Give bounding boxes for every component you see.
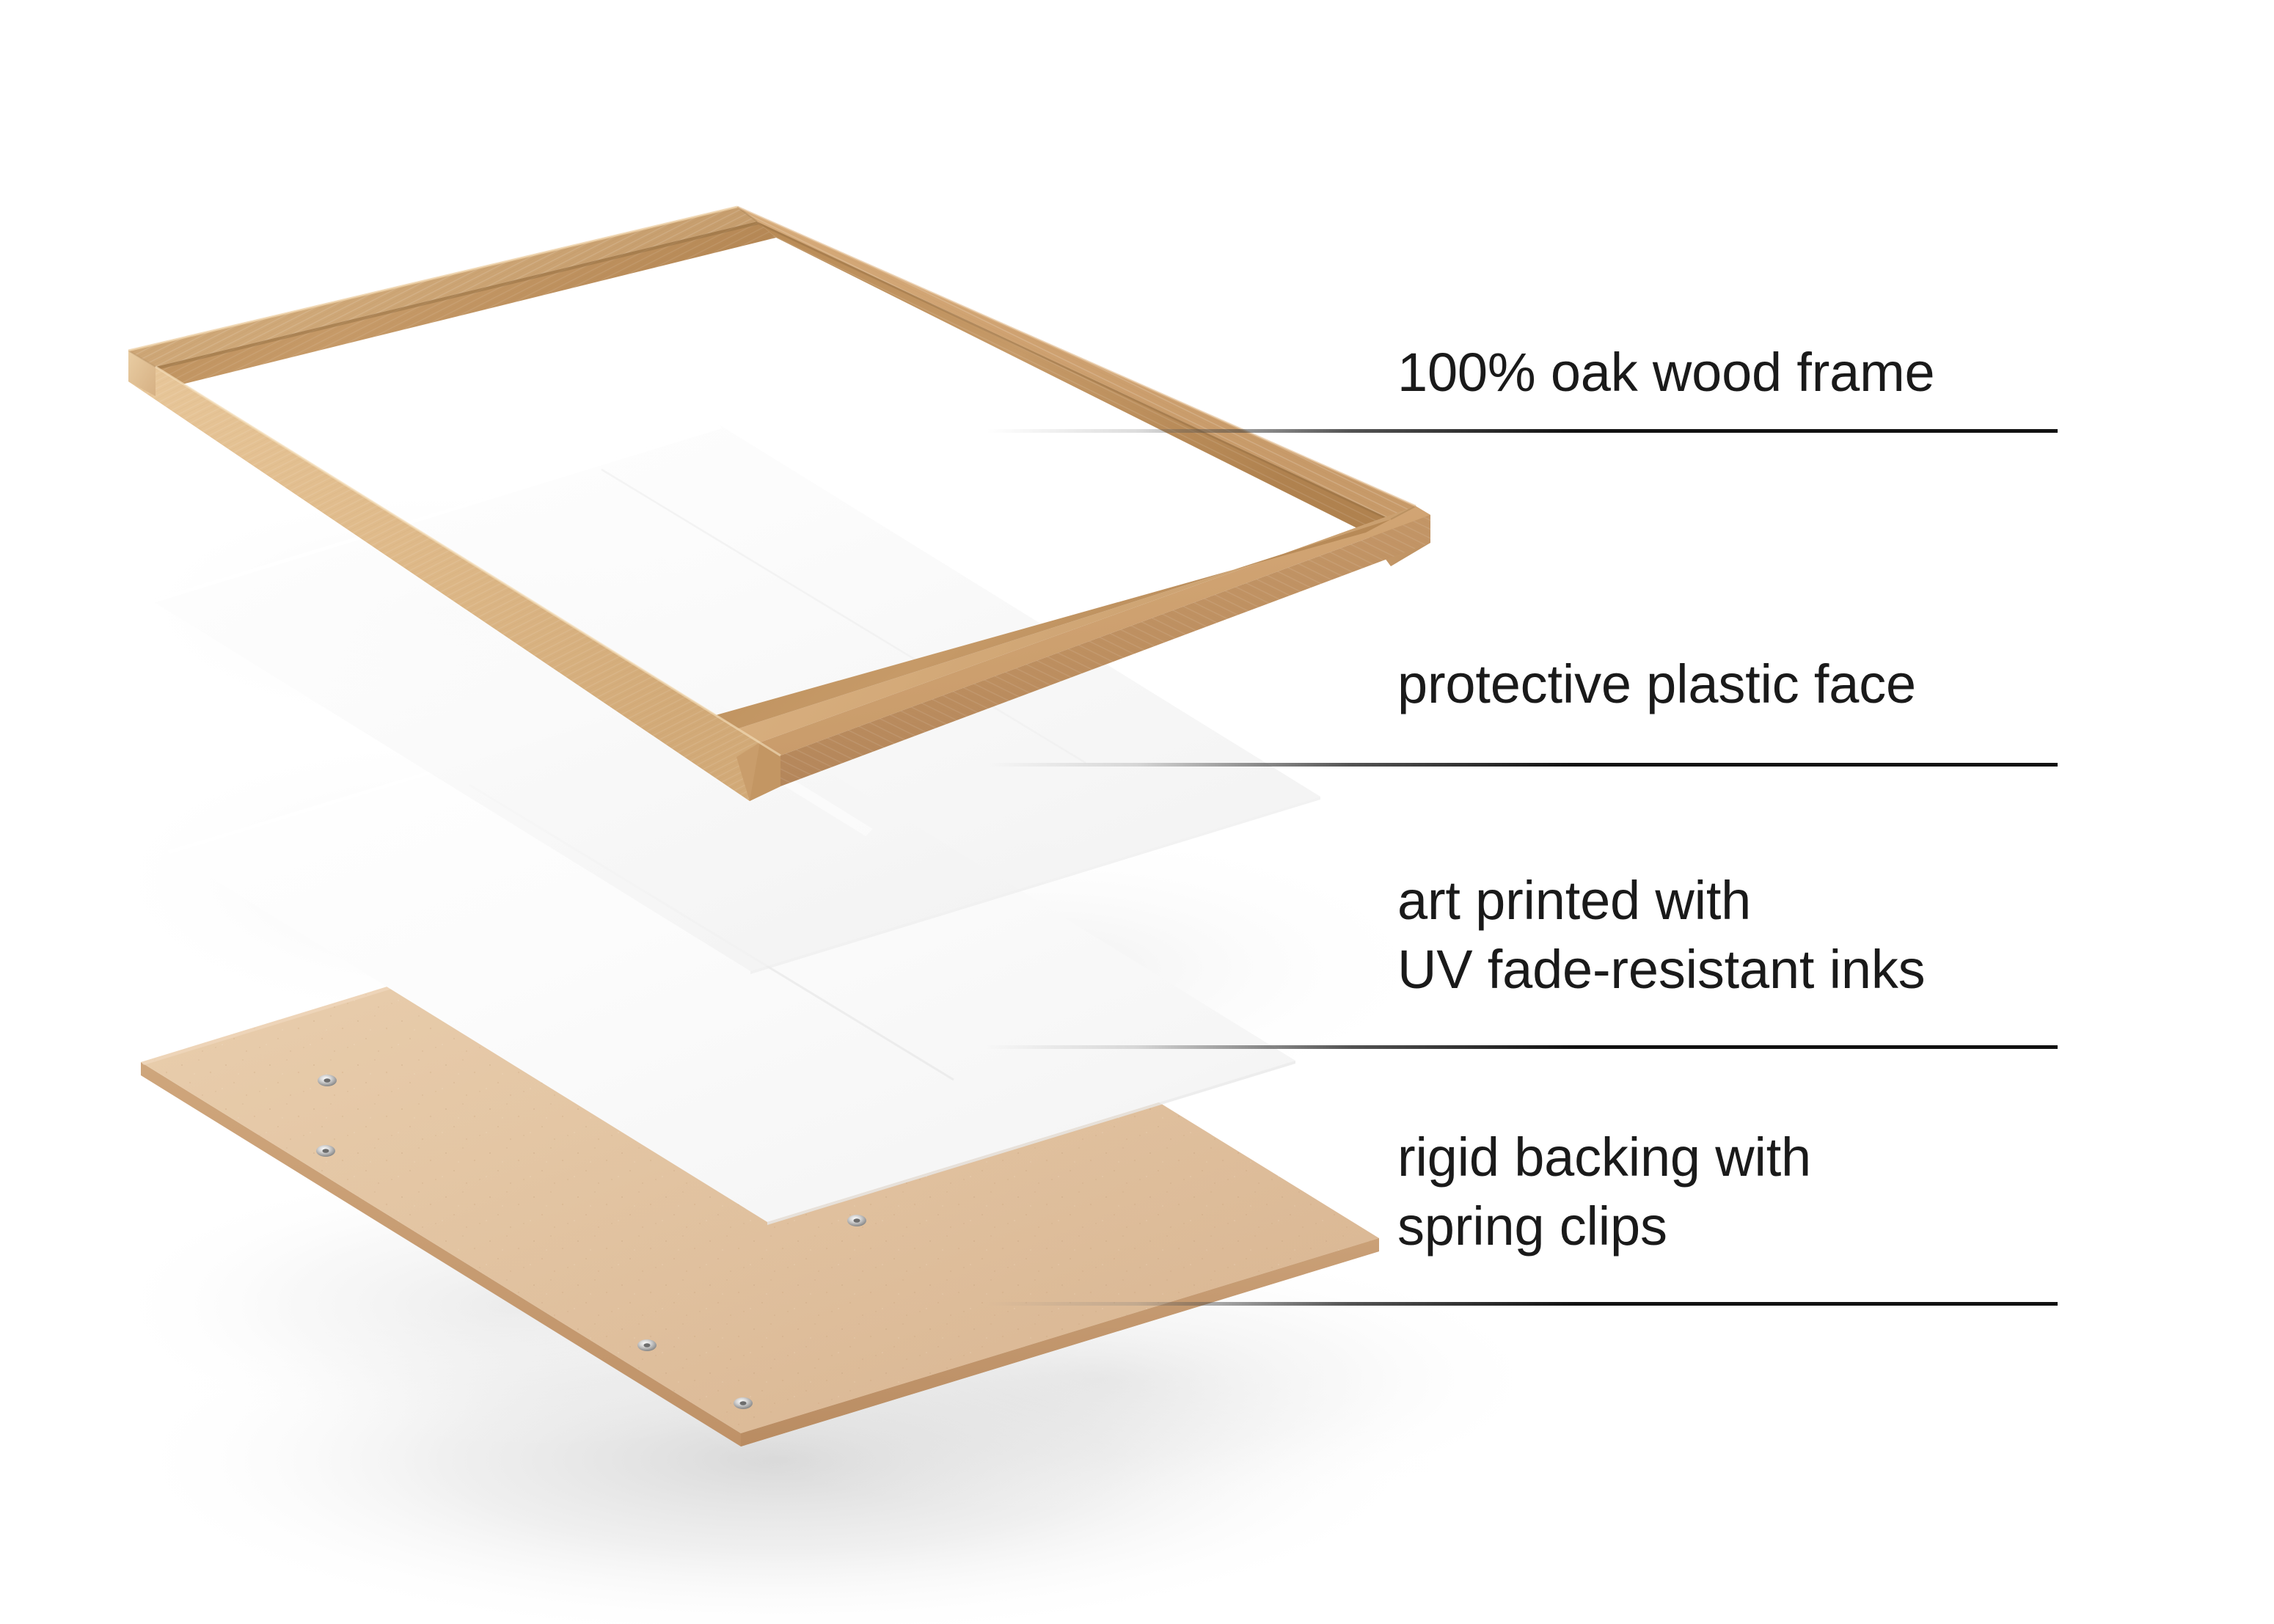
callout-label-rigid-backing-line1: rigid backing with [1397,1126,1811,1189]
callout-label-oak-frame: 100% oak wood frame [1397,341,1935,404]
spring-clip [318,1075,337,1086]
leader-line-oak-frame [987,429,2058,433]
callout-label-art-print-line1: art printed with [1397,869,1751,932]
spring-clip [637,1339,657,1351]
leader-line-plastic-face [987,763,2058,767]
exploded-frame-diagram: 100% oak wood frame protective plastic f… [0,0,2274,1624]
callout-label-rigid-backing-line2: spring clips [1397,1195,1667,1258]
callout-label-art-print-line2: UV fade-resistant inks [1397,938,1925,1001]
callout-label-plastic-face: protective plastic face [1397,653,1916,716]
leader-line-art-print [987,1045,2058,1049]
leader-line-rigid-backing [987,1302,2058,1306]
spring-clip [734,1397,753,1409]
spring-clip [316,1145,335,1157]
exploded-assembly-illustration [0,0,2274,1624]
spring-clip [847,1215,866,1226]
